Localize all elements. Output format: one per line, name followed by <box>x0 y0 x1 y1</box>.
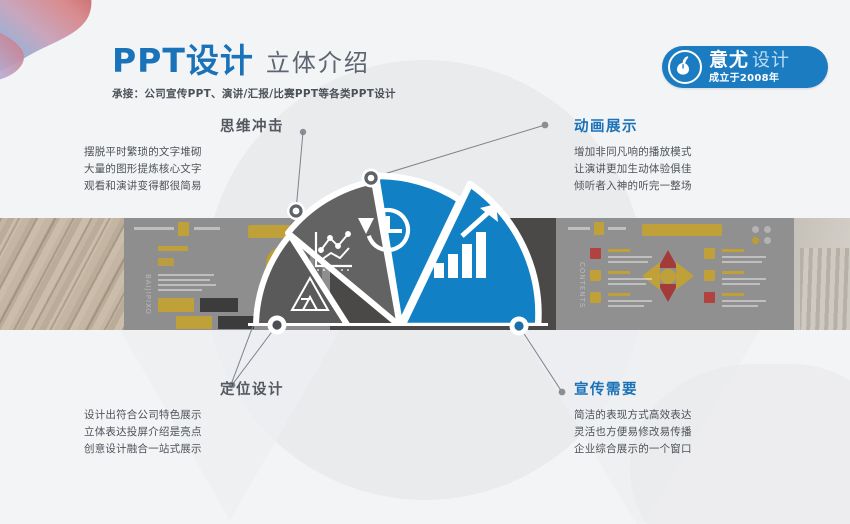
body-line: 灵活也方便易修改易传播 <box>574 424 774 441</box>
text-block-dong-hua-zhan-shi: 动画展示 增加非同凡响的播放模式 让演讲更加生动体验俱佳 倾听者入神的听完一整场 <box>574 120 774 195</box>
text-block-heading: 宣传需要 <box>574 383 774 398</box>
text-block-heading: 动画展示 <box>574 120 774 135</box>
node-bottom-left <box>268 316 287 335</box>
body-line: 摆脱平时繁琐的文字堆砌 <box>84 144 284 161</box>
node-top-left <box>287 202 305 220</box>
node-bottom-right <box>510 317 529 336</box>
body-line: 设计出符合公司特色展示 <box>84 407 284 424</box>
body-line: 企业综合展示的一个窗口 <box>574 441 774 458</box>
body-line: 创意设计融合一站式展示 <box>84 441 284 458</box>
text-block-body: 增加非同凡响的播放模式 让演讲更加生动体验俱佳 倾听者入神的听完一整场 <box>574 144 774 195</box>
node-top-right <box>362 169 381 188</box>
body-line: 增加非同凡响的播放模式 <box>574 144 774 161</box>
body-line: 立体表达投屏介绍是亮点 <box>84 424 284 441</box>
text-block-ding-wei-she-ji: 定位设计 设计出符合公司特色展示 立体表达投屏介绍是亮点 创意设计融合一站式展示 <box>84 383 284 458</box>
slide-canvas: BAIJIPIXO <box>0 0 850 524</box>
text-block-body: 简洁的表现方式高效表达 灵活也方便易修改易传播 企业综合展示的一个窗口 <box>574 407 774 458</box>
text-block-heading: 定位设计 <box>84 383 284 398</box>
body-line: 简洁的表现方式高效表达 <box>574 407 774 424</box>
text-block-xuan-chuan-xu-yao: 宣传需要 简洁的表现方式高效表达 灵活也方便易修改易传播 企业综合展示的一个窗口 <box>574 383 774 458</box>
text-block-body: 摆脱平时繁琐的文字堆砌 大量的图形提炼核心文字 观看和演讲变得都很简易 <box>84 144 284 195</box>
body-line: 让演讲更加生动体验俱佳 <box>574 161 774 178</box>
text-block-body: 设计出符合公司特色展示 立体表达投屏介绍是亮点 创意设计融合一站式展示 <box>84 407 284 458</box>
text-block-heading: 思维冲击 <box>84 120 284 135</box>
body-line: 大量的图形提炼核心文字 <box>84 161 284 178</box>
body-line: 观看和演讲变得都很简易 <box>84 178 284 195</box>
body-line: 倾听者入神的听完一整场 <box>574 178 774 195</box>
text-block-si-wei-chong-ji: 思维冲击 摆脱平时繁琐的文字堆砌 大量的图形提炼核心文字 观看和演讲变得都很简易 <box>84 120 284 195</box>
